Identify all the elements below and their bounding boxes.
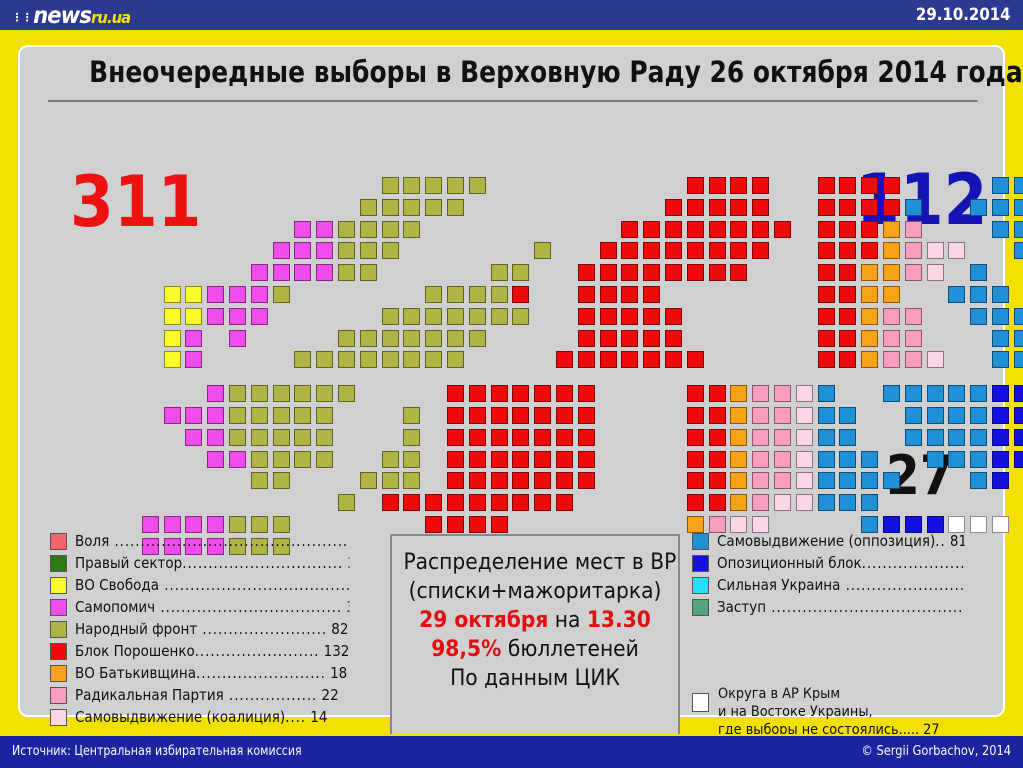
seat-square [229, 451, 246, 468]
seat-square [447, 177, 464, 194]
seat-square [469, 451, 486, 468]
seat-square [1014, 351, 1023, 368]
legend-item-opposition-dots: .................... [862, 554, 965, 572]
legend-item-coalition-label: Самопомич ..............................… [75, 598, 350, 616]
seat-square [1014, 242, 1023, 259]
seat-square [643, 351, 660, 368]
legend-item-coalition-dots: ......................... [196, 664, 326, 682]
seat-square [338, 330, 355, 347]
seat-square [687, 221, 704, 238]
legend-item-coalition-row: ВО Батькивщина......................... … [50, 662, 380, 684]
legend-item-coalition-count: 132 [319, 642, 349, 660]
seat-square [905, 385, 922, 402]
seat-square [469, 472, 486, 489]
seat-square [992, 516, 1009, 533]
seat-square [905, 351, 922, 368]
summary-line-4: 98,5% бюллетеней [403, 635, 666, 664]
summary-line-2: (списки+мажоритарка) [403, 577, 666, 606]
seat-square [469, 177, 486, 194]
legend-item-coalition-name: Правый сектор [75, 554, 182, 572]
seat-square [948, 385, 965, 402]
seat-square [774, 451, 791, 468]
seat-square [382, 330, 399, 347]
seat-square [403, 308, 420, 325]
seat-square [273, 242, 290, 259]
seat-square [730, 221, 747, 238]
legend-item-coalition-dots: .... [285, 708, 306, 726]
legend-item-coalition-swatch [50, 687, 67, 704]
seat-square [294, 264, 311, 281]
seat-square [752, 177, 769, 194]
seat-square [1014, 385, 1023, 402]
seat-square [687, 199, 704, 216]
seat-square [970, 429, 987, 446]
seat-square [970, 472, 987, 489]
legend-item-opposition-row: Опозиционный блок.................... 29 [692, 552, 992, 574]
seat-square [818, 199, 835, 216]
summary-ballots: бюллетеней [501, 637, 638, 662]
legend-item-opposition-name: Самовыдвижение (оппозиция) [717, 532, 935, 550]
seat-square [447, 472, 464, 489]
seat-square [207, 429, 224, 446]
legend-item-coalition-dots: ........................ [197, 620, 327, 638]
legend-item-coalition-label: Народный фронт ........................ … [75, 620, 350, 638]
seat-square [883, 308, 900, 325]
legend-item-opposition-swatch [692, 577, 709, 594]
seat-square [556, 407, 573, 424]
legend-item-coalition-name: Самопомич [75, 598, 155, 616]
seat-square [338, 242, 355, 259]
seat-square [774, 429, 791, 446]
seat-square [491, 264, 508, 281]
seat-square [992, 451, 1009, 468]
seat-square [1014, 429, 1023, 446]
seat-square [491, 385, 508, 402]
legend-item-coalition-name: Народный фронт [75, 620, 197, 638]
seat-square [905, 264, 922, 281]
seat-square [556, 429, 573, 446]
summary-line-3: 29 октября на 13.30 [403, 606, 666, 635]
seat-square [382, 308, 399, 325]
seat-square [578, 451, 595, 468]
legend-item-coalition-swatch [50, 621, 67, 638]
seat-square [382, 199, 399, 216]
seat-square [861, 221, 878, 238]
legend-item-coalition-row: Воля ...................................… [50, 530, 380, 552]
seat-square [534, 494, 551, 511]
summary-percent: 98,5% [431, 637, 501, 662]
seat-square [730, 494, 747, 511]
seat-square [1014, 407, 1023, 424]
legend-item-opposition-name: Опозиционный блок [717, 554, 862, 572]
legend-item-coalition-label: ВО Батькивщина......................... … [75, 664, 350, 682]
seat-square [491, 494, 508, 511]
legend-item-coalition-count: 22 [317, 686, 338, 704]
seat-square [294, 351, 311, 368]
legend-item-coalition-row: Радикальная Партия ................. 22 [50, 684, 380, 706]
seat-square [905, 407, 922, 424]
legend-item-coalition-dots: ............................... [182, 554, 343, 572]
legend-item-coalition-count: 18 [326, 664, 347, 682]
seat-square [294, 429, 311, 446]
seat-square [643, 221, 660, 238]
seat-square [207, 407, 224, 424]
seat-square [861, 242, 878, 259]
seat-square [752, 242, 769, 259]
seat-square [556, 494, 573, 511]
seat-square [839, 494, 856, 511]
seat-square [578, 429, 595, 446]
seat-square [621, 264, 638, 281]
seat-square [447, 308, 464, 325]
seat-square [687, 472, 704, 489]
seat-square [621, 351, 638, 368]
seat-square [469, 286, 486, 303]
seat-square [818, 385, 835, 402]
legend-item-opposition-name: Сильная Украина [717, 576, 840, 594]
seat-square [425, 516, 442, 533]
legend-item-coalition-count: 2 [343, 554, 349, 572]
seat-square [752, 407, 769, 424]
legend-item-opposition-swatch [692, 555, 709, 572]
seat-square [512, 451, 529, 468]
seat-square [164, 286, 181, 303]
seat-square [491, 286, 508, 303]
seat-square [621, 242, 638, 259]
publish-date: 29.10.2014 [916, 5, 1011, 25]
legend-item-coalition-name: ВО Батькивщина [75, 664, 196, 682]
legend-notheld: Округа в АР Крым и на Востоке Украины, г… [692, 685, 959, 739]
seat-square [927, 451, 944, 468]
legend-item-coalition-name: Самовыдвижение (коалиция) [75, 708, 285, 726]
seat-square [709, 494, 726, 511]
seat-square [643, 308, 660, 325]
seat-square [621, 330, 638, 347]
seat-square [382, 177, 399, 194]
seat-square [796, 429, 813, 446]
seat-square [883, 242, 900, 259]
seat-square [425, 308, 442, 325]
seat-square [861, 264, 878, 281]
seat-square [927, 351, 944, 368]
seat-square [251, 472, 268, 489]
seat-square [796, 451, 813, 468]
seat-square [403, 330, 420, 347]
summary-box: Распределение мест в ВР (списки+мажорита… [390, 534, 680, 736]
seat-square [316, 351, 333, 368]
seat-square [948, 429, 965, 446]
seat-square [251, 429, 268, 446]
seat-square [970, 286, 987, 303]
seat-square [970, 385, 987, 402]
legend-item-coalition-row: Правый сектор...........................… [50, 552, 380, 574]
seat-square [338, 494, 355, 511]
logo-main: news [33, 3, 91, 29]
seat-square [316, 385, 333, 402]
seat-square [992, 407, 1009, 424]
legend-item-opposition-dots: ........................................… [766, 598, 964, 616]
seat-square [556, 385, 573, 402]
legend-item-coalition-name: Воля [75, 532, 109, 550]
seat-square [447, 286, 464, 303]
legend-item-opposition-swatch [692, 599, 709, 616]
seat-square [861, 451, 878, 468]
seat-square [207, 451, 224, 468]
seat-square [469, 407, 486, 424]
seat-square [818, 451, 835, 468]
source-text: Источник: Центральная избирательная коми… [12, 744, 302, 759]
seat-square [382, 242, 399, 259]
legend-item-opposition-row: Самовыдвижение (оппозиция).. 81 [692, 530, 992, 552]
seat-square [796, 494, 813, 511]
seat-square [534, 451, 551, 468]
seat-square [839, 472, 856, 489]
seat-square [512, 407, 529, 424]
seat-square [687, 264, 704, 281]
seat-square [730, 199, 747, 216]
seat-square [578, 308, 595, 325]
seat-square [251, 264, 268, 281]
legend-item-coalition-count: 34 [342, 598, 349, 616]
seat-square [948, 242, 965, 259]
seat-square [316, 429, 333, 446]
seat-square [948, 407, 965, 424]
seat-square [491, 451, 508, 468]
seat-square [512, 308, 529, 325]
seat-square [687, 351, 704, 368]
seat-square [447, 451, 464, 468]
seat-square [621, 308, 638, 325]
seat-square [512, 385, 529, 402]
seat-square [883, 385, 900, 402]
seat-square [839, 221, 856, 238]
seat-square [469, 494, 486, 511]
infographic-page: ⋮⋮newsru.ua 29.10.2014 Внеочередные выбо… [0, 0, 1023, 768]
seat-square [185, 407, 202, 424]
seat-square [752, 494, 769, 511]
legend-item-coalition-swatch [50, 533, 67, 550]
seat-square [927, 407, 944, 424]
legend-item-coalition-swatch [50, 555, 67, 572]
seat-square [905, 221, 922, 238]
seat-square [425, 330, 442, 347]
seat-square [403, 472, 420, 489]
seat-square [403, 199, 420, 216]
seat-square [425, 351, 442, 368]
seat-square [382, 472, 399, 489]
seat-square [403, 494, 420, 511]
legend-item-coalition-name: Блок Порошенко [75, 642, 195, 660]
seat-square [883, 221, 900, 238]
seat-square [992, 429, 1009, 446]
seat-square [796, 472, 813, 489]
seat-square [578, 351, 595, 368]
seat-square [447, 351, 464, 368]
seat-square [185, 330, 202, 347]
seat-square [970, 451, 987, 468]
seat-square [207, 308, 224, 325]
seat-square [883, 199, 900, 216]
seat-square [1014, 330, 1023, 347]
seat-square [491, 472, 508, 489]
seat-square [273, 451, 290, 468]
seat-square [447, 407, 464, 424]
seat-square [600, 286, 617, 303]
seat-square [992, 472, 1009, 489]
seat-square [556, 451, 573, 468]
seat-square [665, 351, 682, 368]
seat-square [403, 177, 420, 194]
seat-square [883, 264, 900, 281]
seat-square [229, 385, 246, 402]
seat-square [273, 472, 290, 489]
seat-square [839, 351, 856, 368]
legend-item-coalition-swatch [50, 643, 67, 660]
seat-square [600, 308, 617, 325]
legend-item-coalition-label: Радикальная Партия ................. 22 [75, 686, 350, 704]
legend-item-opposition-label: Самовыдвижение (оппозиция).. 81 [717, 532, 965, 550]
seat-square [403, 221, 420, 238]
seat-square [992, 199, 1009, 216]
seat-square [251, 451, 268, 468]
seat-square [229, 407, 246, 424]
seat-square [360, 199, 377, 216]
seat-square [774, 472, 791, 489]
notheld-line2: и на Востоке Украины, [718, 703, 940, 721]
legend-item-coalition-dots: ........................ [195, 642, 320, 660]
seat-square [774, 494, 791, 511]
seat-square [839, 451, 856, 468]
seat-square [164, 351, 181, 368]
seat-square [512, 286, 529, 303]
seat-square [512, 494, 529, 511]
seat-square [425, 286, 442, 303]
legend-item-opposition-name: Заступ [717, 598, 766, 616]
seat-square [752, 199, 769, 216]
seat-square [730, 407, 747, 424]
seat-square [229, 308, 246, 325]
seat-square [883, 351, 900, 368]
seat-square [905, 429, 922, 446]
legend-item-opposition-row: Сильная Украина ........................… [692, 574, 992, 596]
seat-square [687, 429, 704, 446]
seat-square [927, 242, 944, 259]
seat-square [403, 451, 420, 468]
seat-square [469, 385, 486, 402]
legend-item-opposition-label: Заступ .................................… [717, 598, 965, 616]
seat-square [447, 330, 464, 347]
seat-square [534, 429, 551, 446]
seat-square [643, 286, 660, 303]
legend-item-coalition-name: ВО Свобода [75, 576, 159, 594]
seat-square [948, 451, 965, 468]
seat-square [229, 429, 246, 446]
summary-na: на [548, 608, 587, 633]
seat-square [643, 264, 660, 281]
seat-square [665, 330, 682, 347]
seat-square [382, 494, 399, 511]
seat-square [665, 264, 682, 281]
seat-square [491, 429, 508, 446]
seat-square [316, 407, 333, 424]
seat-square [207, 385, 224, 402]
seat-square [534, 472, 551, 489]
legend-item-coalition-label: Самовыдвижение (коалиция).... 14 [75, 708, 350, 726]
seat-square [883, 286, 900, 303]
seat-square [709, 177, 726, 194]
legend-item-coalition-dots: ................................... [155, 598, 342, 616]
seat-square [294, 385, 311, 402]
seat-square [316, 264, 333, 281]
notheld-swatch [692, 693, 709, 712]
legend-item-coalition-row: Народный фронт ........................ … [50, 618, 380, 640]
seat-square [360, 264, 377, 281]
seat-square [752, 385, 769, 402]
legend-item-coalition-label: Блок Порошенко........................ 1… [75, 642, 350, 660]
seat-square [447, 494, 464, 511]
seat-square [861, 330, 878, 347]
seat-square [621, 286, 638, 303]
seat-square [316, 242, 333, 259]
summary-line-5: По данным ЦИК [403, 664, 666, 693]
seat-square [403, 429, 420, 446]
seat-square [687, 385, 704, 402]
seat-square [861, 286, 878, 303]
seat-square [796, 385, 813, 402]
seat-square [251, 385, 268, 402]
seat-square [752, 472, 769, 489]
seat-square [600, 242, 617, 259]
seat-square [818, 429, 835, 446]
seat-square [600, 264, 617, 281]
seat-square [709, 385, 726, 402]
site-logo[interactable]: ⋮⋮newsru.ua [12, 3, 130, 29]
seat-square [578, 264, 595, 281]
seat-square [512, 472, 529, 489]
seat-square [382, 221, 399, 238]
seat-square [251, 407, 268, 424]
seat-square [578, 330, 595, 347]
seat-square [316, 221, 333, 238]
seat-square [229, 330, 246, 347]
seat-square [185, 351, 202, 368]
seat-square [796, 407, 813, 424]
seat-square [1014, 308, 1023, 325]
seat-square [730, 429, 747, 446]
seat-square [709, 199, 726, 216]
seat-square [360, 221, 377, 238]
legend-item-coalition-swatch [50, 665, 67, 682]
seat-square [491, 308, 508, 325]
seat-square [970, 264, 987, 281]
seat-square [905, 330, 922, 347]
seat-square [687, 242, 704, 259]
seat-square [294, 451, 311, 468]
seat-square [251, 308, 268, 325]
seat-square [600, 351, 617, 368]
seat-square [818, 407, 835, 424]
legend-item-coalition-name: Радикальная Партия [75, 686, 224, 704]
seat-square [905, 242, 922, 259]
seat-square [469, 429, 486, 446]
seat-square [1014, 199, 1023, 216]
seat-square [643, 330, 660, 347]
seat-square [382, 351, 399, 368]
seat-square [839, 308, 856, 325]
seat-square [360, 242, 377, 259]
seat-square [447, 385, 464, 402]
legend-item-coalition-row: Блок Порошенко........................ 1… [50, 640, 380, 662]
